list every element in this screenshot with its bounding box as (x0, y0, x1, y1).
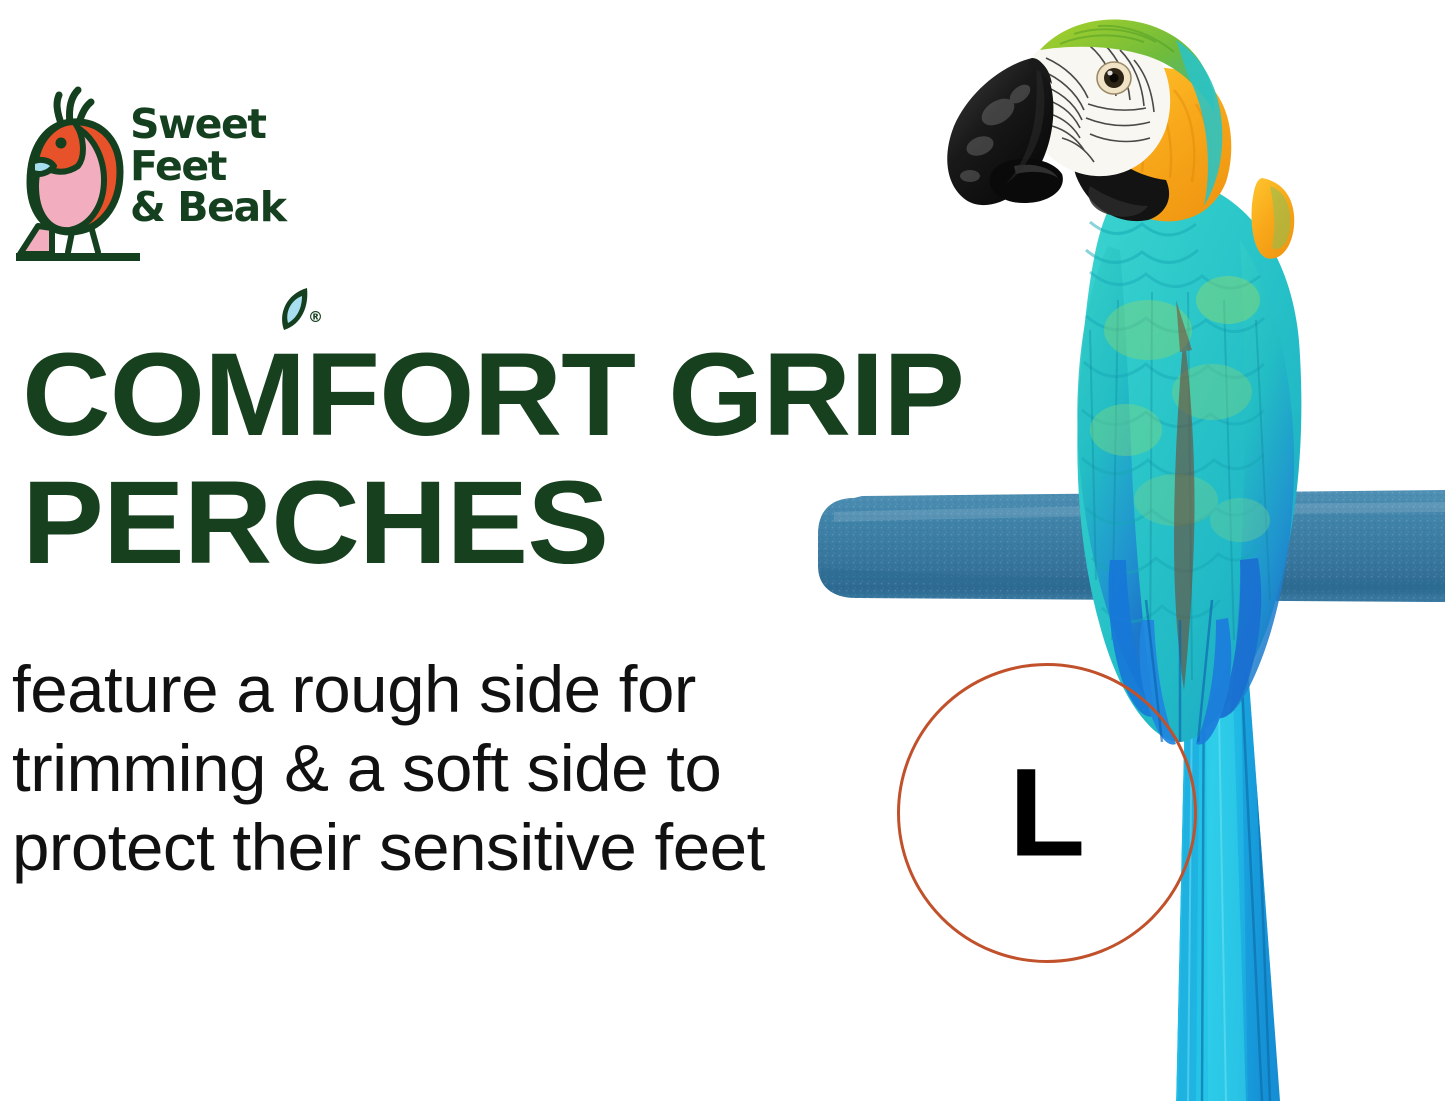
leaf-icon (276, 284, 310, 332)
brand-wordmark: Sweet Feet & Beak (130, 104, 300, 229)
size-badge: L (897, 663, 1197, 963)
brand-name-line-2: Feet (130, 146, 300, 188)
logo-bird-eye (56, 138, 67, 149)
brand-logo: Sweet Feet & Beak ® (12, 86, 332, 266)
size-badge-label: L (900, 751, 1194, 876)
logo-bird-beak (32, 160, 54, 174)
registered-trademark-symbol: ® (308, 308, 323, 326)
logo-perch-line (16, 253, 140, 261)
brand-name-line-3: & Beak (130, 187, 300, 229)
product-description: feature a rough side for trimming & a so… (12, 650, 812, 887)
product-infographic-canvas: Sweet Feet & Beak ® COMFORT GRIP PERCHES… (0, 0, 1445, 1101)
logo-bird-tail (20, 226, 52, 254)
description-line-2: trimming & a soft side to (12, 729, 828, 808)
description-line-3: protect their sensitive feet (12, 808, 828, 887)
description-line-1: feature a rough side for (12, 650, 828, 729)
macaw-eye (1097, 62, 1131, 94)
parrot-logo-icon (12, 86, 140, 264)
brand-name-line-1: Sweet (130, 104, 300, 146)
macaw-beak (947, 58, 1063, 205)
